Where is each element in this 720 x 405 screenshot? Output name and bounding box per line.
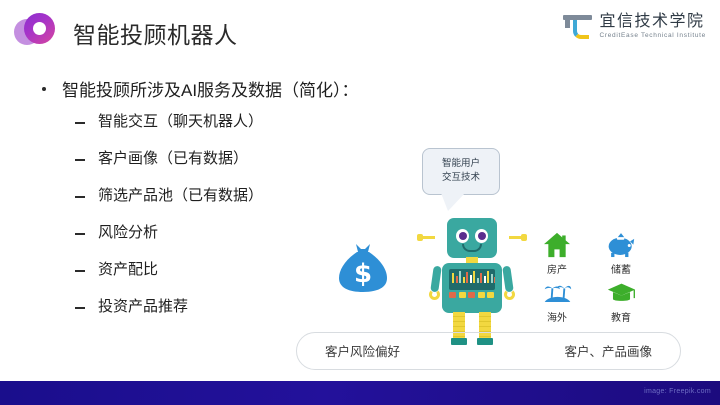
bullet-dash-icon xyxy=(75,270,85,272)
robot-hand-left xyxy=(429,289,440,300)
robot-hand-right xyxy=(504,289,515,300)
robot-eye-right xyxy=(475,229,488,243)
monogram-bar-stem xyxy=(565,20,570,28)
org-logo: 宜信技术学院 CreditEase Technical Institute xyxy=(563,14,706,40)
palm-island-icon xyxy=(529,278,585,308)
page-title: 智能投顾机器人 xyxy=(73,16,238,50)
graduation-cap-icon xyxy=(593,278,649,308)
robot-antenna-right xyxy=(509,236,523,239)
robot-head xyxy=(447,218,497,258)
piggy-bank-icon xyxy=(593,230,649,260)
bullet-dash-icon xyxy=(75,122,85,124)
house-icon xyxy=(529,230,585,260)
product-icon-savings: 储蓄 xyxy=(593,230,649,276)
product-icon-education: 教育 xyxy=(593,278,649,324)
speech-bubble: 智能用户 交互技术 xyxy=(422,148,500,195)
robot-control-panel xyxy=(449,269,495,290)
org-name-cn: 宜信技术学院 xyxy=(599,14,706,31)
sub-bullet-text: 筛选产品池（已有数据） xyxy=(98,187,263,204)
robot-panel-buttons xyxy=(449,292,494,298)
logo-ring-shape xyxy=(24,13,55,44)
robot-panel-bars xyxy=(452,271,495,283)
main-bullet-text: 智能投顾所涉及AI服务及数据（简化）： xyxy=(62,81,359,100)
slide-canvas: 智能投顾机器人 宜信技术学院 CreditEase Technical Inst… xyxy=(0,0,720,405)
product-icon-grid: 房产 储蓄 xyxy=(529,230,649,324)
svg-text:$: $ xyxy=(354,259,372,289)
product-icon-label: 海外 xyxy=(529,309,585,324)
image-credit: image: Freepik.com xyxy=(644,388,711,395)
bullet-dash-icon xyxy=(75,307,85,309)
robot-body xyxy=(442,263,502,313)
speech-bubble-line-2: 交互技术 xyxy=(427,171,495,185)
bullet-dash-icon xyxy=(75,196,85,198)
product-icon-label: 教育 xyxy=(593,309,649,324)
sub-bullet-text: 投资产品推荐 xyxy=(98,298,188,315)
product-icon-label: 储蓄 xyxy=(593,261,649,276)
speech-bubble-tail xyxy=(441,193,465,211)
slide-footer: image: Freepik.com xyxy=(0,381,720,405)
overlapping-circles-logo-icon xyxy=(14,11,58,51)
base-pill-container: 客户风险偏好 客户、产品画像 xyxy=(296,332,681,370)
product-icon-label: 房产 xyxy=(529,261,585,276)
sub-bullet-text: 客户画像（已有数据） xyxy=(98,150,248,167)
list-item: 智能投顾所涉及AI服务及数据（简化）： xyxy=(0,76,470,110)
sub-bullet-text: 风险分析 xyxy=(98,224,158,241)
slide-header: 智能投顾机器人 宜信技术学院 CreditEase Technical Inst… xyxy=(0,0,720,62)
creditease-tc-monogram-icon xyxy=(563,14,592,40)
product-icon-overseas: 海外 xyxy=(529,278,585,324)
bullet-dash-icon xyxy=(75,233,85,235)
robot-mouth xyxy=(462,244,482,252)
illustration-group: 智能用户 交互技术 $ xyxy=(290,140,690,380)
bullet-dot-icon xyxy=(42,87,46,91)
money-bag-dollar-icon: $ xyxy=(335,240,391,296)
product-icon-house: 房产 xyxy=(529,230,585,276)
base-pill-caption-right: 客户、产品画像 xyxy=(564,341,652,360)
monogram-hook xyxy=(573,20,589,39)
org-name-en: CreditEase Technical Institute xyxy=(599,33,706,40)
speech-bubble-line-1: 智能用户 xyxy=(427,157,495,171)
sub-bullet-text: 智能交互（聊天机器人） xyxy=(98,113,263,130)
org-logo-wordmark: 宜信技术学院 CreditEase Technical Institute xyxy=(599,14,706,40)
bullet-dash-icon xyxy=(75,159,85,161)
robot-eye-left xyxy=(456,229,469,243)
robot-antenna-left xyxy=(421,236,435,239)
sub-bullet-text: 资产配比 xyxy=(98,261,158,278)
base-pill-caption-left: 客户风险偏好 xyxy=(325,341,400,360)
